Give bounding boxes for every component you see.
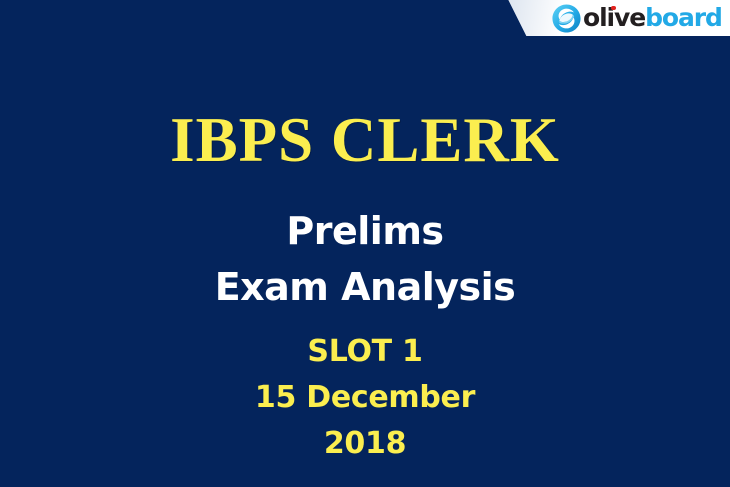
poster-subtitle: Prelims Exam Analysis — [0, 203, 730, 315]
wordmark-accent-dot-icon — [611, 6, 616, 11]
detail-slot: SLOT 1 — [0, 329, 730, 375]
oliveboard-logo[interactable]: oliveboard — [551, 2, 722, 34]
subtitle-line-2: Exam Analysis — [0, 259, 730, 315]
oliveboard-wordmark: oliveboard — [583, 5, 722, 30]
exam-title: IBPS CLERK — [0, 109, 730, 172]
detail-date: 15 December — [0, 375, 730, 421]
detail-year: 2018 — [0, 421, 730, 467]
poster-details: SLOT 1 15 December 2018 — [0, 329, 730, 467]
wordmark-board: board — [645, 3, 722, 32]
subtitle-line-1: Prelims — [0, 203, 730, 259]
exam-analysis-poster: oliveboard IBPS CLERK Prelims Exam Analy… — [0, 0, 730, 487]
oliveboard-swirl-icon — [551, 3, 582, 34]
